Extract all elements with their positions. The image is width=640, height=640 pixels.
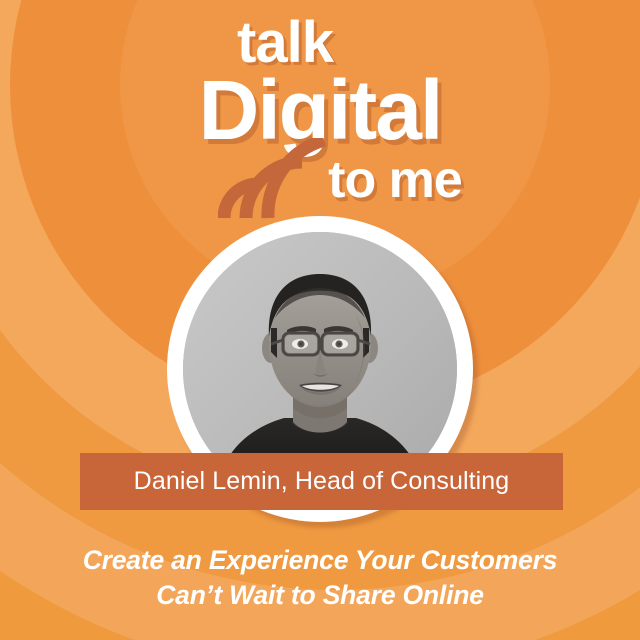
tagline-line-1: Create an Experience Your Customers bbox=[0, 543, 640, 578]
episode-tagline: Create an Experience Your Customers Can’… bbox=[0, 543, 640, 613]
podcast-cover: talk Digital to me bbox=[0, 0, 640, 640]
tagline-line-2: Can’t Wait to Share Online bbox=[0, 578, 640, 613]
wifi-arcs-icon bbox=[218, 138, 328, 224]
speaker-banner: Daniel Lemin, Head of Consulting bbox=[80, 453, 563, 510]
speaker-name-title: Daniel Lemin, Head of Consulting bbox=[134, 467, 510, 496]
